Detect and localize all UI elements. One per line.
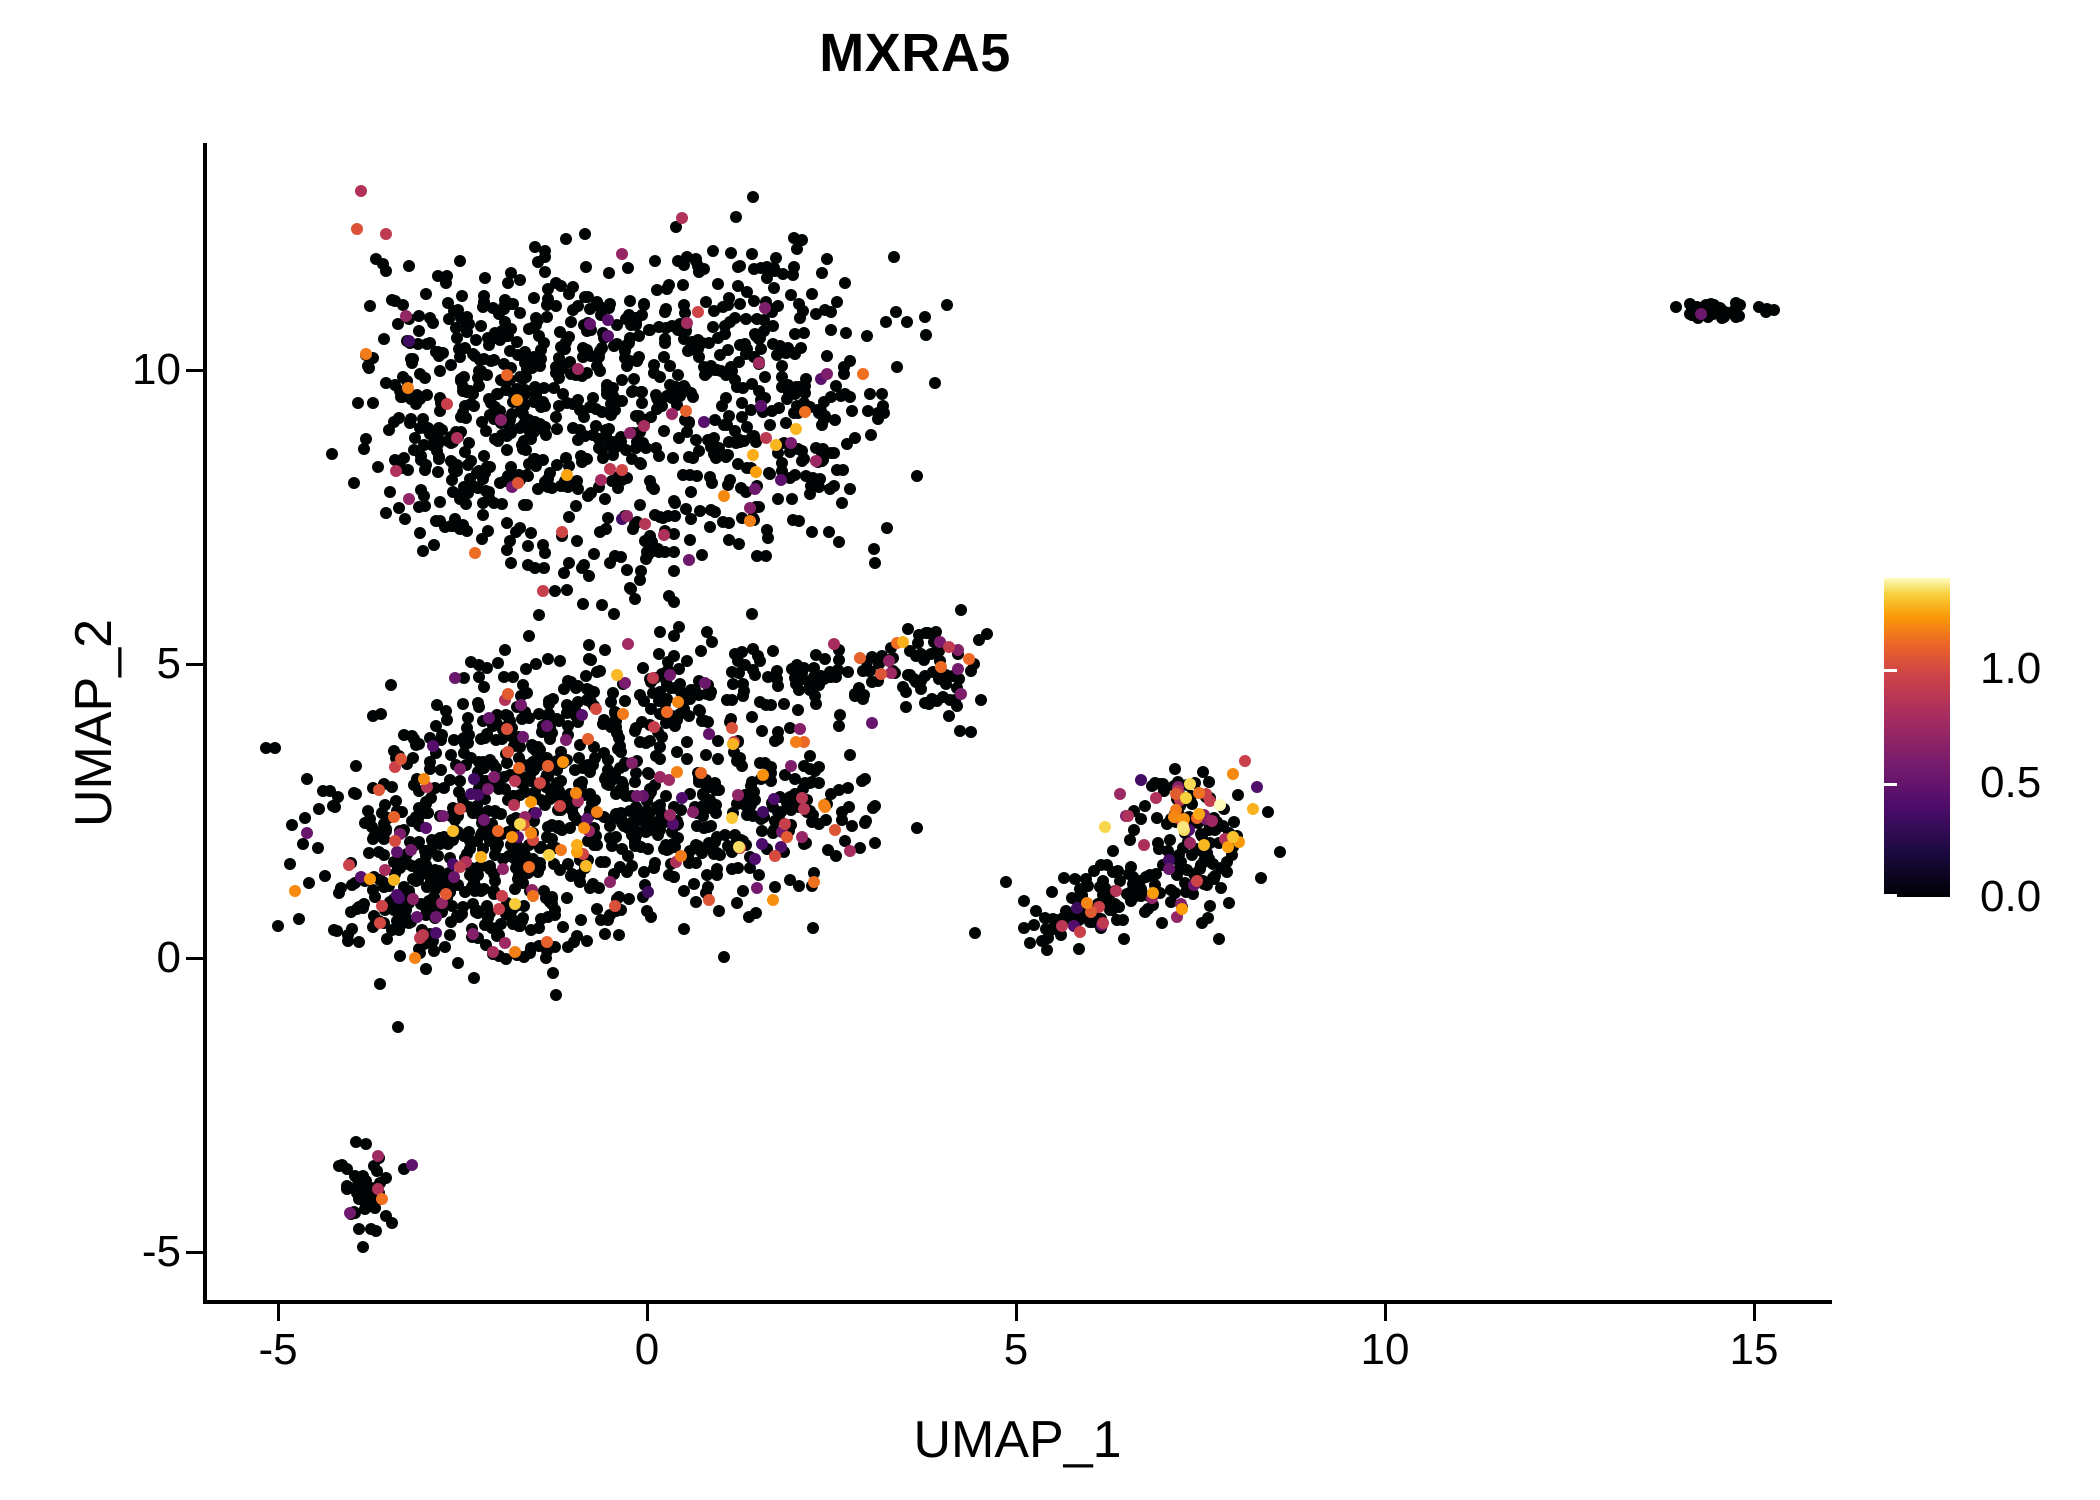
scatter-point <box>622 638 634 650</box>
scatter-point <box>754 696 766 708</box>
scatter-point <box>723 436 735 448</box>
scatter-point <box>806 526 818 538</box>
scatter-point <box>868 543 880 555</box>
scatter-point <box>786 493 798 505</box>
scatter-point <box>641 905 653 917</box>
scatter-point <box>561 584 573 596</box>
scatter-point <box>753 869 765 881</box>
scatter-point <box>775 474 787 486</box>
scatter-point <box>297 838 309 850</box>
scatter-point <box>398 729 410 741</box>
scatter-point <box>1255 872 1267 884</box>
scatter-point <box>1042 932 1054 944</box>
scatter-point <box>613 929 625 941</box>
scatter-point <box>1228 816 1240 828</box>
scatter-point <box>788 261 800 273</box>
scatter-point <box>361 1201 373 1213</box>
scatter-point <box>711 869 723 881</box>
scatter-point <box>622 262 634 274</box>
scatter-panel <box>205 143 1830 1302</box>
scatter-point <box>664 669 676 681</box>
colorbar-gradient <box>1884 578 1950 897</box>
scatter-point <box>358 898 370 910</box>
scatter-point <box>1730 297 1742 309</box>
scatter-point <box>700 749 712 761</box>
scatter-point <box>583 639 595 651</box>
scatter-point <box>659 306 671 318</box>
scatter-point <box>590 703 602 715</box>
feature-plot-figure: MXRA5 -50510-5051015 UMAP_1 UMAP_2 0.00.… <box>0 0 2100 1500</box>
scatter-point <box>616 248 628 260</box>
scatter-point <box>836 497 848 509</box>
scatter-point <box>831 296 843 308</box>
scatter-point <box>428 539 440 551</box>
scatter-point <box>550 277 562 289</box>
scatter-point <box>663 279 675 291</box>
scatter-point <box>1099 821 1111 833</box>
scatter-point <box>771 665 783 677</box>
scatter-point <box>1232 789 1244 801</box>
scatter-point <box>764 468 776 480</box>
scatter-point <box>840 327 852 339</box>
scatter-point <box>590 403 602 415</box>
scatter-point <box>844 749 856 761</box>
scatter-point <box>747 191 759 203</box>
scatter-point <box>641 546 653 558</box>
scatter-point <box>834 709 846 721</box>
scatter-point <box>335 882 347 894</box>
scatter-point <box>445 359 457 371</box>
scatter-point <box>808 876 820 888</box>
scatter-point <box>764 419 776 431</box>
scatter-point <box>391 889 403 901</box>
scatter-point <box>591 806 603 818</box>
scatter-point <box>726 722 738 734</box>
scatter-point <box>453 911 465 923</box>
scatter-point <box>790 736 802 748</box>
scatter-point <box>839 277 851 289</box>
scatter-point <box>492 657 504 669</box>
scatter-point <box>796 455 808 467</box>
scatter-point <box>736 397 748 409</box>
scatter-point <box>607 687 619 699</box>
scatter-point <box>1163 863 1175 875</box>
scatter-point <box>501 544 513 556</box>
scatter-point <box>793 515 805 527</box>
scatter-point <box>829 824 841 836</box>
scatter-point <box>691 820 703 832</box>
scatter-point <box>955 688 967 700</box>
scatter-point <box>522 470 534 482</box>
scatter-point <box>692 306 704 318</box>
scatter-point <box>570 500 582 512</box>
scatter-point <box>951 700 963 712</box>
scatter-point <box>609 900 621 912</box>
scatter-point <box>621 564 633 576</box>
scatter-point <box>473 365 485 377</box>
scatter-point <box>460 498 472 510</box>
scatter-point <box>492 825 504 837</box>
scatter-point <box>550 989 562 1001</box>
scatter-point <box>747 643 759 655</box>
scatter-point <box>483 339 495 351</box>
scatter-point <box>587 759 599 771</box>
scatter-point <box>773 402 785 414</box>
scatter-point <box>677 469 689 481</box>
scatter-point <box>969 927 981 939</box>
scatter-point <box>639 518 651 530</box>
scatter-point <box>504 345 516 357</box>
scatter-point <box>853 682 865 694</box>
scatter-point <box>807 922 819 934</box>
scatter-point <box>301 827 313 839</box>
scatter-point <box>867 802 879 814</box>
scatter-point <box>713 442 725 454</box>
scatter-point <box>399 513 411 525</box>
scatter-point <box>293 913 305 925</box>
scatter-point <box>794 723 806 735</box>
scatter-point <box>698 361 710 373</box>
scatter-point <box>1193 808 1205 820</box>
scatter-point <box>383 424 395 436</box>
scatter-point <box>603 267 615 279</box>
scatter-point <box>469 547 481 559</box>
scatter-point <box>902 623 914 635</box>
scatter-point <box>678 923 690 935</box>
scatter-point <box>397 917 409 929</box>
scatter-point <box>732 789 744 801</box>
scatter-point <box>403 335 415 347</box>
scatter-point <box>495 414 507 426</box>
scatter-point <box>499 937 511 949</box>
scatter-point <box>565 316 577 328</box>
scatter-point <box>380 228 392 240</box>
scatter-point <box>602 764 614 776</box>
scatter-point <box>501 369 513 381</box>
scatter-point <box>626 860 638 872</box>
scatter-point <box>634 736 646 748</box>
scatter-point <box>468 400 480 412</box>
scatter-point <box>455 312 467 324</box>
scatter-point <box>1165 884 1177 896</box>
scatter-point <box>551 423 563 435</box>
scatter-point <box>918 654 930 666</box>
scatter-point <box>596 599 608 611</box>
scatter-point <box>1214 799 1226 811</box>
scatter-point <box>943 710 955 722</box>
scatter-point <box>696 549 708 561</box>
scatter-point <box>638 420 650 432</box>
scatter-point <box>579 228 591 240</box>
scatter-point <box>475 733 487 745</box>
scatter-point <box>824 483 836 495</box>
scatter-point <box>380 507 392 519</box>
scatter-point <box>449 672 461 684</box>
scatter-point <box>367 833 379 845</box>
scatter-point <box>653 695 665 707</box>
scatter-point <box>413 325 425 337</box>
scatter-point <box>1177 821 1189 833</box>
scatter-point <box>690 434 702 446</box>
scatter-point <box>365 1223 377 1235</box>
scatter-point <box>355 185 367 197</box>
scatter-point <box>454 803 466 815</box>
scatter-point <box>746 776 758 788</box>
scatter-point <box>582 733 594 745</box>
scatter-point <box>911 470 923 482</box>
scatter-point <box>861 330 873 342</box>
scatter-point <box>576 776 588 788</box>
scatter-point <box>411 911 423 923</box>
scatter-point <box>343 859 355 871</box>
scatter-point <box>613 732 625 744</box>
scatter-point <box>749 794 761 806</box>
scatter-point <box>299 812 311 824</box>
scatter-point <box>458 830 470 842</box>
scatter-point <box>539 400 551 412</box>
scatter-point <box>798 327 810 339</box>
scatter-point <box>813 777 825 789</box>
scatter-point <box>488 771 500 783</box>
scatter-point <box>301 773 313 785</box>
scatter-point <box>634 574 646 586</box>
scatter-point <box>649 857 661 869</box>
scatter-point <box>709 506 721 518</box>
scatter-point <box>534 744 546 756</box>
scatter-point <box>770 252 782 264</box>
scatter-point <box>713 905 725 917</box>
x-tick-label: 0 <box>635 1328 659 1372</box>
scatter-point <box>608 340 620 352</box>
scatter-point <box>440 277 452 289</box>
scatter-point <box>619 695 631 707</box>
scatter-point <box>520 663 532 675</box>
scatter-point <box>441 398 453 410</box>
scatter-point <box>772 300 784 312</box>
scatter-point <box>935 661 947 673</box>
scatter-point <box>690 255 702 267</box>
scatter-point <box>357 1241 369 1253</box>
scatter-point <box>721 419 733 431</box>
scatter-point <box>668 630 680 642</box>
scatter-point <box>523 630 535 642</box>
scatter-point <box>675 804 687 816</box>
scatter-point <box>833 536 845 548</box>
scatter-point <box>616 464 628 476</box>
scatter-point <box>615 746 627 758</box>
scatter-point <box>664 360 676 372</box>
scatter-point <box>610 831 622 843</box>
scatter-point <box>407 893 419 905</box>
scatter-point <box>621 339 633 351</box>
scatter-point <box>1110 885 1122 897</box>
scatter-point <box>891 361 903 373</box>
scatter-point <box>965 665 977 677</box>
scatter-point <box>1239 755 1251 767</box>
scatter-point <box>591 666 603 678</box>
scatter-point <box>842 666 854 678</box>
scatter-point <box>1213 933 1225 945</box>
scatter-point <box>602 314 614 326</box>
scatter-point <box>703 894 715 906</box>
scatter-point <box>821 253 833 265</box>
page-title: MXRA5 <box>0 22 1830 84</box>
scatter-point <box>595 474 607 486</box>
scatter-point <box>588 548 600 560</box>
scatter-point <box>793 298 805 310</box>
scatter-point <box>563 288 575 300</box>
colorbar-tick-mark <box>1884 894 1897 897</box>
scatter-point <box>695 767 707 779</box>
scatter-point <box>348 477 360 489</box>
scatter-point <box>1041 944 1053 956</box>
scatter-point <box>819 653 831 665</box>
scatter-point <box>940 678 952 690</box>
scatter-point <box>1180 792 1192 804</box>
scatter-point <box>638 866 650 878</box>
scatter-point <box>717 516 729 528</box>
scatter-point <box>602 512 614 524</box>
scatter-point <box>389 454 401 466</box>
scatter-point <box>975 694 987 706</box>
scatter-point <box>510 526 522 538</box>
scatter-point <box>681 753 693 765</box>
scatter-point <box>772 493 784 505</box>
scatter-point <box>439 941 451 953</box>
scatter-point <box>731 897 743 909</box>
scatter-point <box>722 299 734 311</box>
scatter-point <box>628 373 640 385</box>
scatter-point <box>388 811 400 823</box>
scatter-point <box>380 825 392 837</box>
scatter-point <box>413 738 425 750</box>
scatter-point <box>447 825 459 837</box>
scatter-point <box>475 829 487 841</box>
scatter-point <box>866 717 878 729</box>
scatter-point <box>583 653 595 665</box>
scatter-point <box>1039 912 1051 924</box>
scatter-point <box>554 800 566 812</box>
scatter-point <box>860 815 872 827</box>
scatter-point <box>757 806 769 818</box>
scatter-point <box>409 952 421 964</box>
scatter-point <box>1156 917 1168 929</box>
scatter-point <box>403 493 415 505</box>
scatter-point <box>759 302 771 314</box>
scatter-point <box>753 357 765 369</box>
scatter-point <box>630 442 642 454</box>
scatter-point <box>492 388 504 400</box>
scatter-point <box>517 372 529 384</box>
scatter-point <box>636 716 648 728</box>
scatter-point <box>710 807 722 819</box>
scatter-point <box>594 345 606 357</box>
scatter-point <box>525 942 537 954</box>
scatter-point <box>725 247 737 259</box>
scatter-point <box>769 881 781 893</box>
scatter-point <box>751 882 763 894</box>
scatter-point <box>351 223 363 235</box>
scatter-point <box>828 638 840 650</box>
scatter-point <box>424 312 436 324</box>
scatter-point <box>457 698 469 710</box>
scatter-point <box>838 368 850 380</box>
scatter-point <box>685 486 697 498</box>
scatter-point <box>727 738 739 750</box>
scatter-point <box>635 841 647 853</box>
scatter-point <box>428 945 440 957</box>
scatter-point <box>595 914 607 926</box>
scatter-point <box>770 439 782 451</box>
scatter-point <box>821 350 833 362</box>
scatter-point <box>499 644 511 656</box>
scatter-point <box>731 381 743 393</box>
colorbar-tick-label: 1.0 <box>1980 647 2041 691</box>
scatter-point <box>846 405 858 417</box>
scatter-point <box>378 333 390 345</box>
scatter-point <box>718 490 730 502</box>
scatter-point <box>1150 792 1162 804</box>
scatter-point <box>654 626 666 638</box>
scatter-point <box>726 666 738 678</box>
scatter-point <box>379 864 391 876</box>
scatter-point <box>668 546 680 558</box>
scatter-point <box>692 343 704 355</box>
scatter-point <box>289 885 301 897</box>
scatter-point <box>759 371 771 383</box>
scatter-point <box>479 272 491 284</box>
scatter-point <box>542 760 554 772</box>
scatter-point <box>695 645 707 657</box>
scatter-point <box>688 878 700 890</box>
scatter-point <box>750 907 762 919</box>
scatter-point <box>965 726 977 738</box>
scatter-point <box>388 874 400 886</box>
scatter-point <box>420 822 432 834</box>
scatter-point <box>571 535 583 547</box>
scatter-point <box>724 316 736 328</box>
scatter-point <box>878 407 890 419</box>
scatter-point <box>668 596 680 608</box>
scatter-point <box>721 694 733 706</box>
scatter-point <box>647 672 659 684</box>
scatter-point <box>620 790 632 802</box>
y-tick-label: 0 <box>157 936 181 980</box>
scatter-point <box>674 678 686 690</box>
colorbar-tick-label: 0.5 <box>1980 761 2041 805</box>
scatter-point <box>512 477 524 489</box>
scatter-point <box>350 760 362 772</box>
scatter-point <box>1247 803 1259 815</box>
scatter-point <box>572 300 584 312</box>
scatter-point <box>501 757 513 769</box>
scatter-point <box>701 626 713 638</box>
scatter-point <box>799 406 811 418</box>
scatter-point <box>580 261 592 273</box>
scatter-point <box>442 838 454 850</box>
scatter-point <box>746 431 758 443</box>
scatter-point <box>684 534 696 546</box>
y-tick-label: 5 <box>157 642 181 686</box>
scatter-point <box>497 863 509 875</box>
scatter-point <box>796 831 808 843</box>
scatter-point <box>819 801 831 813</box>
scatter-point <box>487 946 499 958</box>
scatter-point <box>477 509 489 521</box>
scatter-point <box>367 710 379 722</box>
scatter-point <box>363 847 375 859</box>
scatter-point <box>1227 831 1239 843</box>
